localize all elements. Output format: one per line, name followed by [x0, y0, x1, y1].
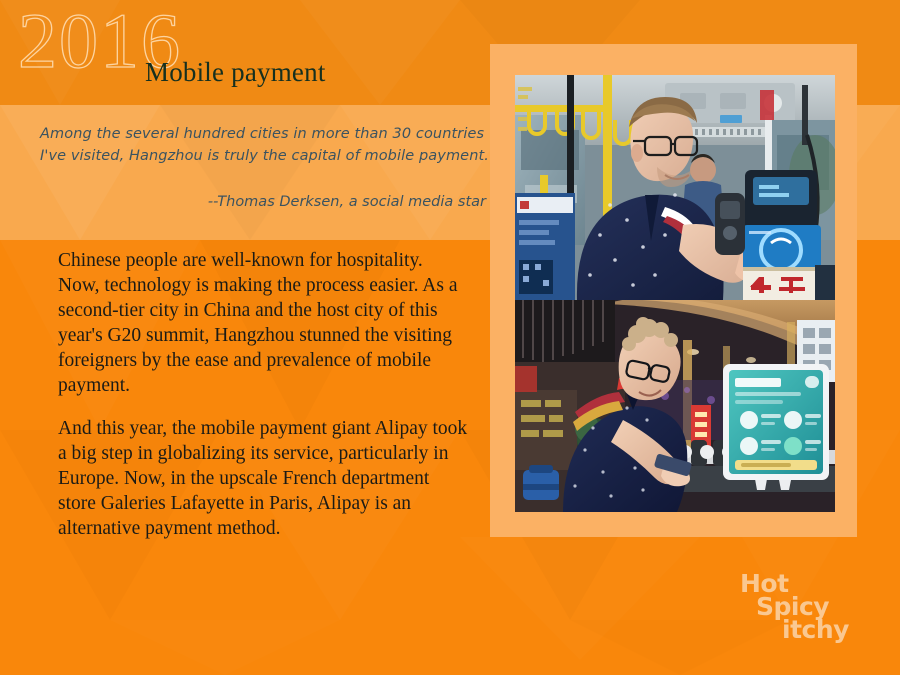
- bus-payment-photo: [515, 75, 835, 300]
- body-copy: Chinese people are well-known for hospit…: [58, 249, 468, 541]
- presentation-slide: 2016 Mobile payment Among the several hu…: [0, 0, 900, 675]
- logo-line-3: itchy: [782, 618, 880, 641]
- quote-attribution: --Thomas Derksen, a social media star: [40, 194, 490, 210]
- quote-text: Among the several hundred cities in more…: [40, 123, 490, 168]
- mall-kiosk-photo: [515, 300, 835, 512]
- pull-quote: Among the several hundred cities in more…: [40, 123, 490, 210]
- photo-stack: [515, 75, 835, 512]
- body-paragraph-2: And this year, the mobile payment giant …: [58, 417, 468, 542]
- page-title: Mobile payment: [145, 57, 326, 88]
- body-paragraph-1: Chinese people are well-known for hospit…: [58, 249, 468, 399]
- brand-logo: Hot Spicy itchy: [740, 572, 880, 652]
